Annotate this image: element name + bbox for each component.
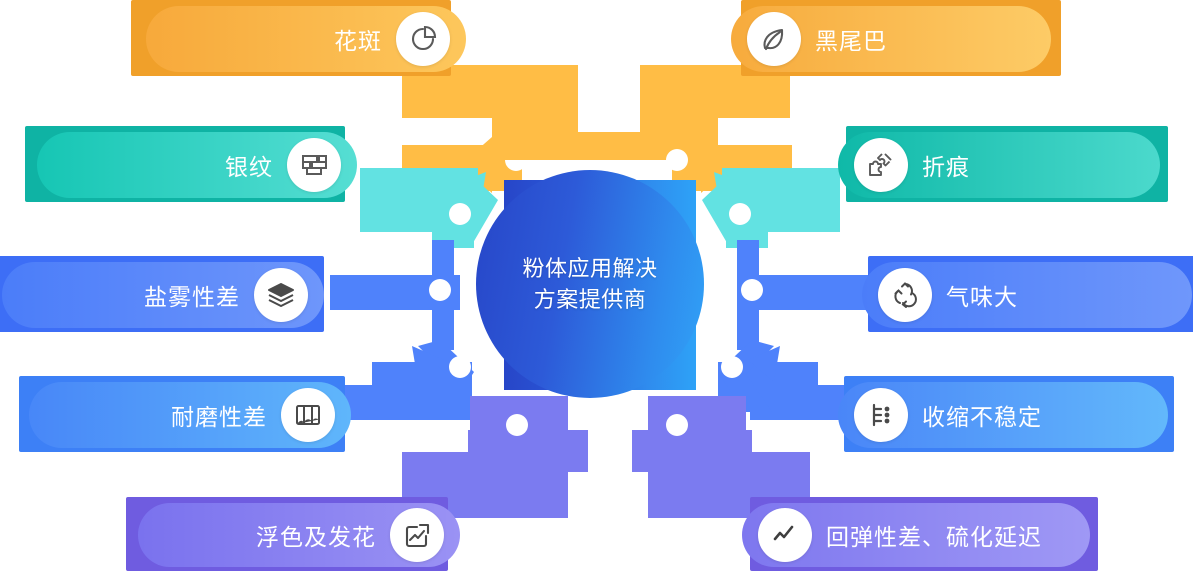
pie-chart-icon [396,12,450,66]
node-zhe-hen[interactable]: 折痕 [838,126,1168,208]
pill-hua-ban[interactable]: 花斑 [146,6,466,72]
pill-yan-wu-xing-cha[interactable]: 盐雾性差 [2,262,324,328]
node-label: 收缩不稳定 [922,398,1042,432]
node-label: 花斑 [334,22,382,56]
pill-yin-wen[interactable]: 银纹 [37,132,357,198]
node-hui-tan-xing-cha[interactable]: 回弹性差、硫化延迟 [742,497,1102,577]
connector-yan-wu-xing-cha [330,240,460,350]
node-label: 银纹 [225,148,273,182]
node-qi-wei-da[interactable]: 气味大 [862,256,1193,338]
node-label: 盐雾性差 [144,278,240,312]
connector-yin-wen [360,168,498,248]
connector-qi-wei-da [737,240,870,350]
node-hei-wei-ba[interactable]: 黑尾巴 [731,0,1061,82]
node-label: 浮色及发花 [256,518,376,552]
center-node[interactable]: 粉体应用解决 方案提供商 [476,170,704,398]
node-nai-mo-xing-cha[interactable]: 耐磨性差 [19,376,355,458]
node-label: 回弹性差、硫化延迟 [826,518,1042,552]
trend-up-box-icon [390,508,444,562]
node-label: 黑尾巴 [815,22,887,56]
open-book-map-icon [281,388,335,442]
node-yin-wen[interactable]: 银纹 [25,126,355,208]
puzzle-piece-icon [854,138,908,192]
pill-nai-mo-xing-cha[interactable]: 耐磨性差 [29,382,351,448]
node-hua-ban[interactable]: 花斑 [131,0,461,82]
recycle-icon [878,268,932,322]
node-label: 气味大 [946,278,1018,312]
node-yan-wu-xing-cha[interactable]: 盐雾性差 [0,256,330,338]
node-label: 折痕 [922,148,970,182]
pill-fu-se-ji-fa-hua[interactable]: 浮色及发花 [138,503,460,567]
pill-hei-wei-ba[interactable]: 黑尾巴 [731,6,1051,72]
brick-wall-icon [287,138,341,192]
line-chart-circle-icon [758,508,812,562]
infographic-canvas: 粉体应用解决 方案提供商 花斑 黑尾巴 [0,0,1193,577]
pill-hui-tan-xing-cha[interactable]: 回弹性差、硫化延迟 [742,503,1090,567]
node-fu-se-ji-fa-hua[interactable]: 浮色及发花 [126,497,462,577]
connector-zhe-hen [702,168,840,248]
connector-nai-mo-xing-cha [340,340,474,420]
pill-zhe-hen[interactable]: 折痕 [838,132,1160,198]
pill-qi-wei-da[interactable]: 气味大 [862,262,1192,328]
node-shou-suo-bu-wen-ding[interactable]: 收缩不稳定 [838,376,1178,458]
layers-icon [254,268,308,322]
sitemap-icon [854,388,908,442]
leaf-icon [747,12,801,66]
center-title: 粉体应用解决 方案提供商 [522,253,657,315]
pill-shou-suo-bu-wen-ding[interactable]: 收缩不稳定 [838,382,1168,448]
node-label: 耐磨性差 [171,398,267,432]
